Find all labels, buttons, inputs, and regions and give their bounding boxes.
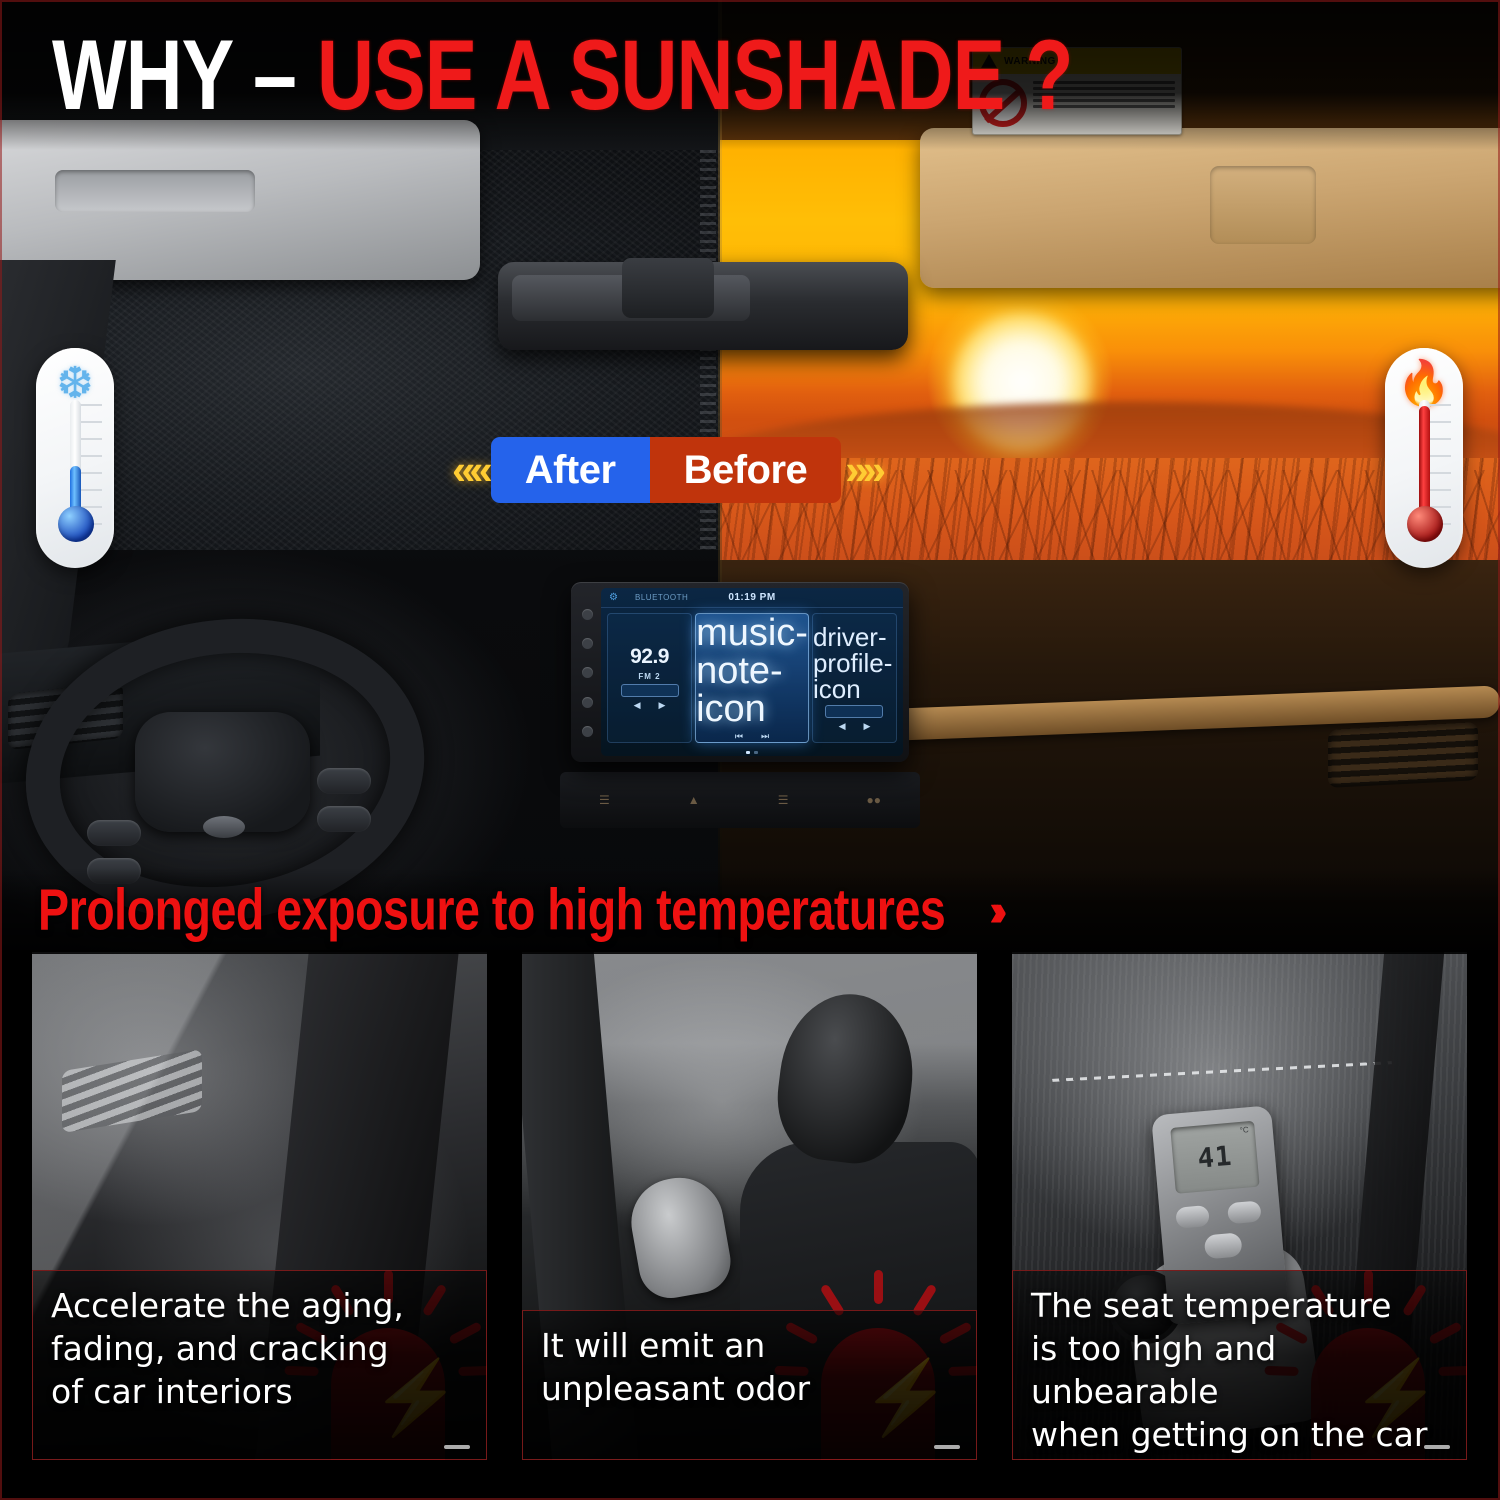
steering-button — [87, 820, 141, 846]
hot-thermometer: 🔥 — [1385, 348, 1463, 568]
panel-caption-text: It will emit an unpleasant odor — [541, 1325, 958, 1411]
radio-frequency: 92.9 — [630, 645, 669, 669]
page-indicator-dots — [744, 751, 760, 754]
panel-aging-fading-cracking: ⚡ Accelerate the aging, fading, and crac… — [32, 952, 487, 1460]
seek-prev-icon[interactable]: ◀ — [634, 700, 641, 711]
prolonged-exposure-text: Prolonged exposure to high temperatures — [38, 882, 945, 941]
steering-button — [317, 768, 371, 794]
head-unit-tiles: 92.9 FM 2 ◀ ▶ music-note-icon ⏮ ⏭ — [601, 608, 903, 748]
right-air-vent — [1328, 722, 1478, 788]
infographic-page: WARNING — [0, 0, 1500, 1500]
radio-band: FM 2 — [638, 672, 660, 681]
infotainment-head-unit[interactable]: ⚙ BLUETOOTH 01:19 PM 92.9 FM 2 ◀ ▶ — [571, 582, 909, 762]
driver-profile-icon: driver-profile-icon — [813, 624, 896, 702]
seat-stitching — [1052, 1061, 1392, 1082]
head-unit-screen[interactable]: ⚙ BLUETOOTH 01:19 PM 92.9 FM 2 ◀ ▶ — [601, 588, 903, 756]
fast-forward-icon[interactable]: ⏭ — [761, 731, 769, 742]
thermometer-button — [1175, 1205, 1210, 1229]
title-dash: – — [253, 20, 296, 131]
thermometer-button — [1227, 1200, 1262, 1224]
driver-hand — [624, 1171, 735, 1303]
thermometer-bulb-hot — [1407, 506, 1443, 542]
profile-prev-icon[interactable]: ◀ — [839, 721, 846, 732]
radio-preset-bar — [621, 684, 679, 697]
defroster-icon[interactable]: ▲ — [688, 793, 700, 807]
radio-seek-controls[interactable]: ◀ ▶ — [634, 700, 666, 711]
head-unit-button[interactable] — [582, 726, 593, 737]
thermometer-reading: 41 — [1196, 1140, 1233, 1174]
seat-heater-left-icon[interactable]: ☰ — [599, 793, 610, 807]
caption-underline — [1424, 1445, 1450, 1449]
right-visor-mirror — [1210, 166, 1316, 244]
music-note-icon: music-note-icon — [696, 614, 808, 728]
bluetooth-icon: ⚙ — [609, 592, 618, 603]
thermometer-unit-label: °C — [1239, 1125, 1249, 1135]
sun-ray — [874, 1270, 883, 1304]
head-unit-source: BLUETOOTH — [635, 593, 688, 602]
chevron-left-icon: «« — [452, 449, 487, 491]
climate-dual-icon[interactable]: ●● — [866, 793, 881, 807]
head-unit-status-bar: ⚙ BLUETOOTH 01:19 PM — [601, 588, 903, 608]
caption-underline — [934, 1445, 960, 1449]
panel-seat-temperature: °C 41 ⚡ The seat te — [1012, 952, 1467, 1460]
panel-caption: The seat temperature is too high and unb… — [1012, 1270, 1467, 1460]
profile-next-icon[interactable]: ▶ — [863, 721, 870, 732]
page-title: WHY – USE A SUNSHADE ? — [52, 25, 1073, 124]
head-unit-side-buttons[interactable] — [579, 600, 595, 746]
cold-thermometer: ❆ — [36, 348, 114, 568]
profile-nav-controls[interactable]: ◀ ▶ — [839, 721, 871, 732]
caption-underline — [444, 1445, 470, 1449]
panel-caption: It will emit an unpleasant odor — [522, 1310, 977, 1460]
thermometer-button — [1204, 1232, 1243, 1259]
steering-wheel-logo — [203, 816, 245, 838]
head-unit-button[interactable] — [582, 697, 593, 708]
panel-caption-text: The seat temperature is too high and unb… — [1031, 1285, 1448, 1457]
chevron-right-icon: »» — [845, 449, 880, 491]
headline-bar: WHY – USE A SUNSHADE ? — [0, 0, 1500, 150]
steering-wheel-hub — [135, 712, 310, 832]
head-unit-clock: 01:19 PM — [728, 592, 775, 603]
thermometer-bulb-cold — [58, 506, 94, 542]
title-use-a-sunshade: USE A SUNSHADE ? — [317, 20, 1073, 131]
left-visor-mirror — [55, 170, 255, 212]
seek-next-icon[interactable]: ▶ — [659, 700, 666, 711]
after-badge[interactable]: After — [491, 437, 650, 503]
radio-tile[interactable]: 92.9 FM 2 ◀ ▶ — [607, 613, 692, 743]
consequences-panels: ⚡ Accelerate the aging, fading, and crac… — [0, 952, 1500, 1500]
before-after-hero-image: WARNING — [0, 0, 1500, 950]
head-unit-button[interactable] — [582, 667, 593, 678]
profile-tile[interactable]: driver-profile-icon ◀ ▶ — [812, 613, 897, 743]
profile-selector-bar — [825, 705, 883, 718]
panel-caption-text: Accelerate the aging, fading, and cracki… — [51, 1285, 468, 1414]
chevron-right-triple-icon: ››› — [989, 885, 997, 937]
thermometer-display: °C 41 — [1170, 1121, 1259, 1194]
panel-caption: Accelerate the aging, fading, and cracki… — [32, 1270, 487, 1460]
head-unit-button[interactable] — [582, 609, 593, 620]
title-why: WHY — [52, 20, 232, 131]
media-transport-controls[interactable]: ⏮ ⏭ — [735, 731, 769, 742]
prolonged-exposure-banner: Prolonged exposure to high temperatures … — [0, 868, 1500, 954]
steering-button — [317, 806, 371, 832]
before-badge[interactable]: Before — [650, 437, 842, 503]
panel-unpleasant-odor: ⚡ It will emit an unpleasant odor — [522, 952, 977, 1460]
before-after-toggle[interactable]: «« After Before »» — [452, 434, 880, 506]
media-tile[interactable]: music-note-icon ⏮ ⏭ — [695, 613, 809, 743]
rewind-icon[interactable]: ⏮ — [735, 731, 743, 742]
rear-view-mirror-stem — [622, 258, 714, 318]
center-console-controls[interactable]: ☰ ▲ ☰ ●● — [560, 772, 920, 828]
seat-heater-right-icon[interactable]: ☰ — [778, 793, 789, 807]
head-unit-button[interactable] — [582, 638, 593, 649]
